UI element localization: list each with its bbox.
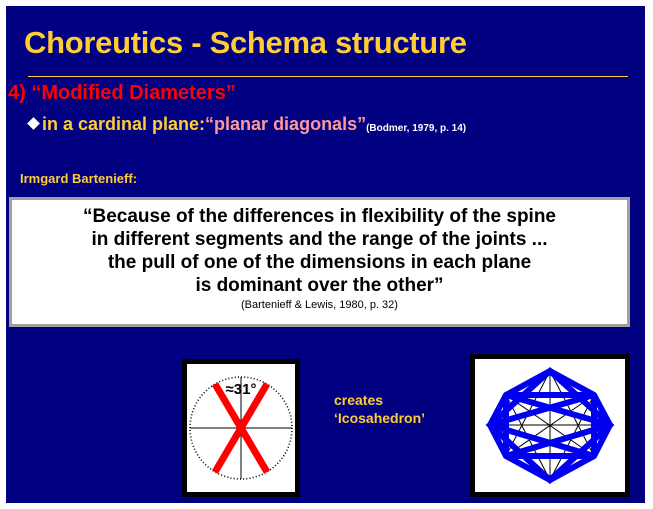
bullet-text-quoted: “planar diagonals”: [205, 114, 366, 135]
angle-label: ≈31°: [226, 381, 257, 398]
page-title: Choreutics - Schema structure: [24, 25, 467, 61]
bullet-text-main: in a cardinal plane:: [42, 114, 205, 135]
bullet-citation: (Bodmer, 1979, p. 14): [366, 123, 466, 134]
circle-diagram-svg: ≈31°: [187, 364, 295, 492]
quote-line: “Because of the differences in flexibili…: [12, 205, 627, 228]
quote-line: is dominant over the other”: [12, 274, 627, 297]
planar-diagonals-circle-figure: ≈31°: [182, 359, 300, 497]
bullet-item: in a cardinal plane: “planar diagonals” …: [29, 114, 466, 135]
title-divider: [28, 76, 628, 77]
quote-line: in different segments and the range of t…: [12, 228, 627, 251]
quote-box: “Because of the differences in flexibili…: [9, 197, 630, 327]
quote-citation: (Bartenieff & Lewis, 1980, p. 32): [12, 299, 627, 311]
icosahedron-figure: [470, 354, 630, 497]
diamond-bullet-icon: [27, 117, 40, 130]
creates-label-line1: creates: [334, 391, 425, 409]
creates-label-line2: ‘Icosahedron’: [334, 409, 425, 427]
slide-canvas: Choreutics - Schema structure 4) “Modifi…: [6, 6, 645, 503]
creates-label: creates ‘Icosahedron’: [334, 391, 425, 427]
section-heading: 4) “Modified Diameters”: [8, 82, 236, 105]
quote-attribution: Irmgard Bartenieff:: [20, 171, 137, 186]
icosahedron-diagram-svg: [475, 359, 625, 492]
quote-line: the pull of one of the dimensions in eac…: [12, 251, 627, 274]
